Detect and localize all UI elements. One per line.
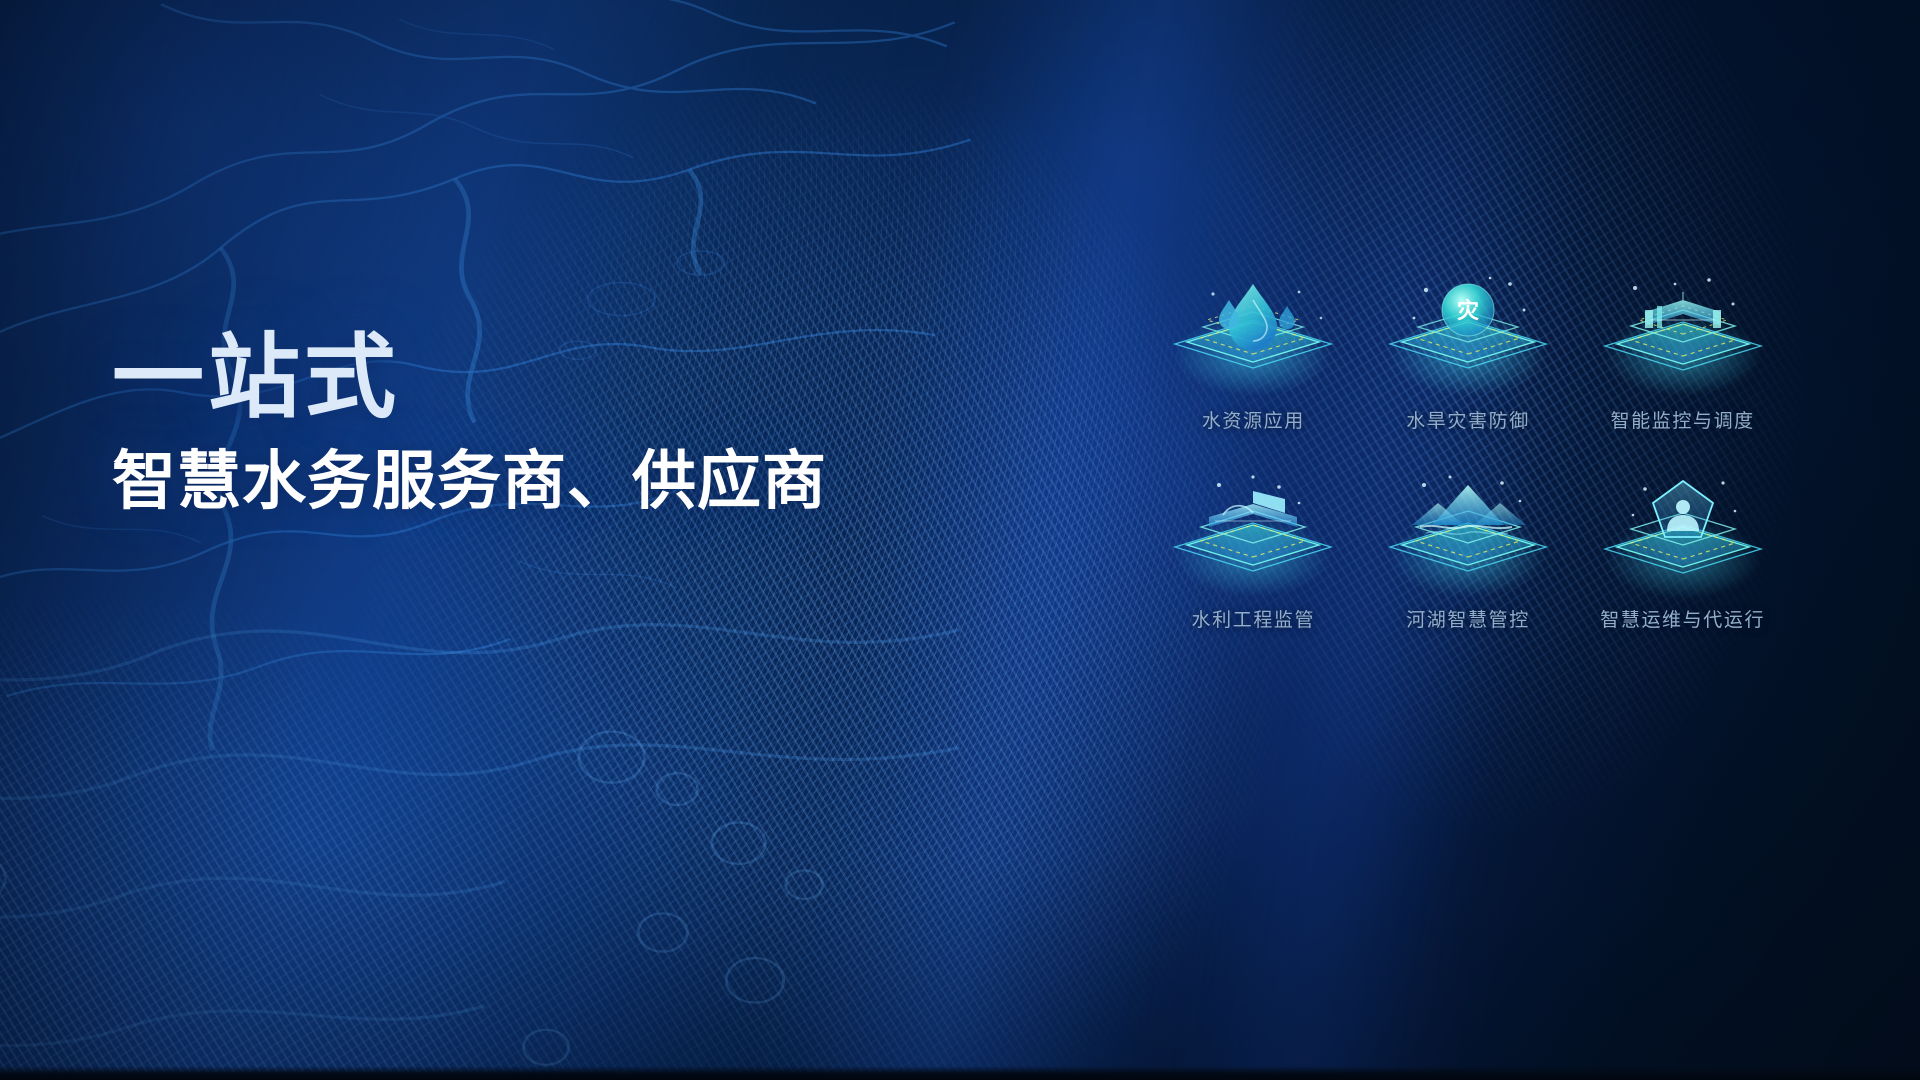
disaster-sphere-icon: 灾 bbox=[1368, 270, 1568, 400]
capability-label: 智能监控与调度 bbox=[1611, 406, 1755, 433]
capability-item-water-resource[interactable]: 水资源应用 bbox=[1148, 270, 1359, 433]
capability-grid: 水资源应用 bbox=[1148, 270, 1788, 632]
water-drop-icon bbox=[1153, 270, 1353, 400]
capability-item-flood-drought-defense[interactable]: 灾 水旱灾害防御 bbox=[1363, 270, 1574, 433]
page-title: 一站式 bbox=[112, 332, 992, 424]
capability-item-river-lake[interactable]: 河湖智慧管控 bbox=[1363, 469, 1574, 632]
capability-item-smart-monitoring[interactable]: 智能监控与调度 bbox=[1577, 270, 1788, 433]
capability-item-smart-operations[interactable]: 智慧运维与代运行 bbox=[1577, 469, 1788, 632]
river-lake-icon bbox=[1368, 469, 1568, 599]
headline-block: 一站式 智慧水务服务商、供应商 bbox=[112, 332, 992, 515]
capability-item-hydro-engineering[interactable]: 水利工程监管 bbox=[1148, 469, 1359, 632]
disaster-badge-character: 灾 bbox=[1457, 298, 1480, 323]
capability-label: 河湖智慧管控 bbox=[1406, 605, 1530, 632]
slide-canvas: 一站式 智慧水务服务商、供应商 bbox=[0, 0, 1920, 1080]
dam-control-icon bbox=[1583, 270, 1783, 400]
capability-label: 智慧运维与代运行 bbox=[1600, 605, 1765, 632]
shield-operations-icon bbox=[1583, 469, 1783, 599]
capability-label: 水旱灾害防御 bbox=[1406, 406, 1530, 433]
page-subtitle: 智慧水务服务商、供应商 bbox=[112, 448, 992, 515]
capability-label: 水利工程监管 bbox=[1192, 605, 1316, 632]
bottom-edge-strip bbox=[0, 1066, 1920, 1080]
capability-label: 水资源应用 bbox=[1202, 406, 1305, 433]
hydro-engineering-icon bbox=[1153, 469, 1353, 599]
